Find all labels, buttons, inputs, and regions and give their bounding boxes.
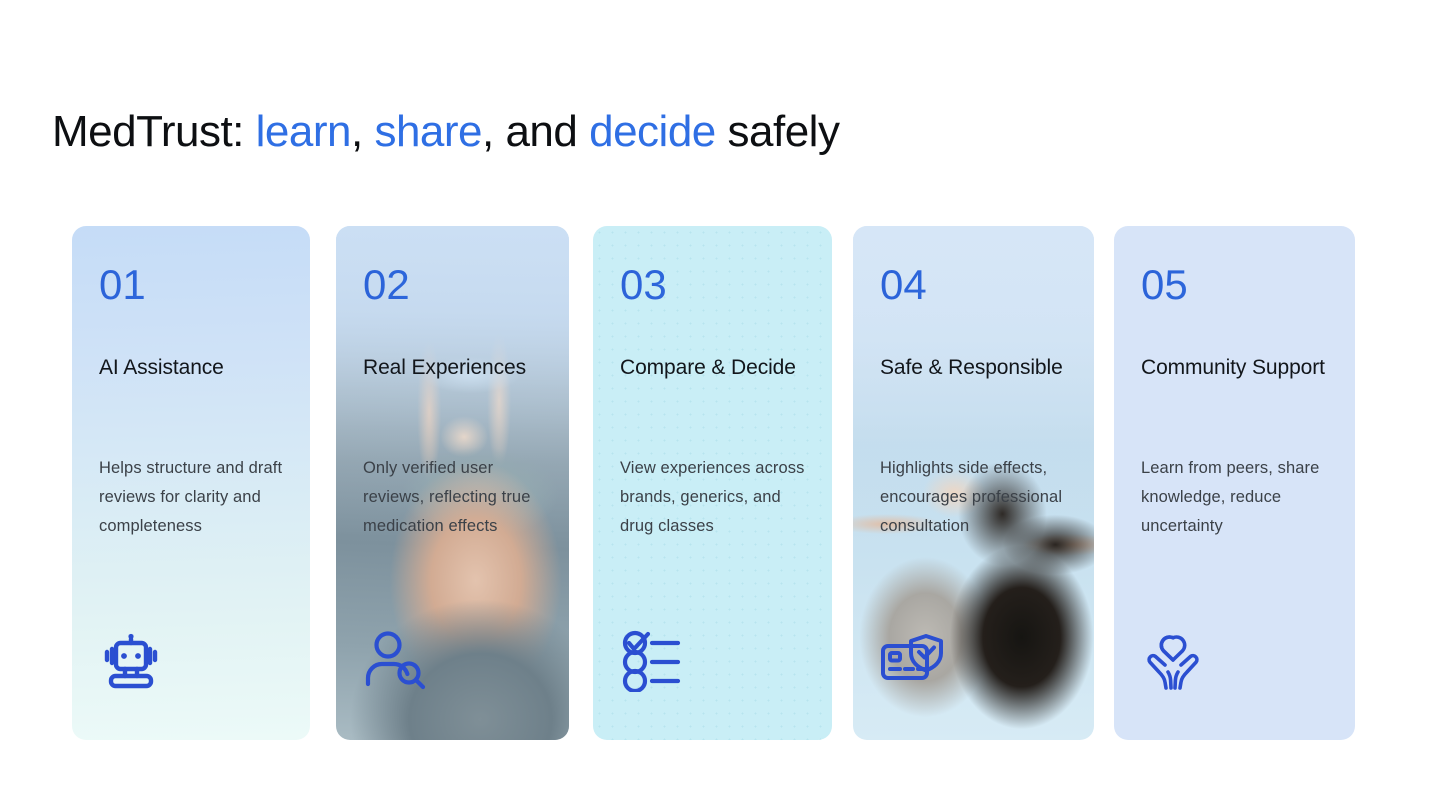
card-number: 02 [363,264,543,306]
checklist-icon [620,628,684,692]
card-description: View experiences across brands, generics… [620,454,812,541]
feature-card-05[interactable]: 05 Community Support Learn from peers, s… [1114,226,1355,740]
feature-card-03[interactable]: 03 Compare & Decide View experiences acr… [593,226,832,740]
card-shield-check-icon [880,628,944,692]
card-number: 04 [880,264,1068,306]
title-segment-0: MedTrust: [52,107,256,156]
title-segment-2: , [351,107,374,156]
feature-card-rail: 01 AI Assistance Helps structure and dra… [72,226,1368,740]
robot-icon [99,628,163,692]
title-segment-4: , and [482,107,589,156]
feature-card-04[interactable]: 04 Safe & Responsible Highlights side ef… [853,226,1094,740]
title-segment-6: safely [716,107,840,156]
card-description: Helps structure and draft reviews for cl… [99,454,290,541]
heart-in-hands-icon [1141,628,1205,692]
card-description: Learn from peers, share knowledge, reduc… [1141,454,1335,541]
title-segment-1: learn [256,107,351,156]
card-description: Highlights side effects, encourages prof… [880,454,1074,541]
title-segment-5: decide [589,107,716,156]
feature-card-01[interactable]: 01 AI Assistance Helps structure and dra… [72,226,310,740]
card-title: Compare & Decide [620,350,806,385]
card-number: 03 [620,264,806,306]
page-title: MedTrust: learn, share, and decide safel… [52,107,839,157]
user-search-icon [363,628,427,692]
card-number: 05 [1141,264,1329,306]
card-description: Only verified user reviews, reflecting t… [363,454,549,541]
card-number: 01 [99,264,284,306]
card-title: Real Experiences [363,350,543,385]
card-title: Community Support [1141,350,1329,385]
title-segment-3: share [374,107,482,156]
card-title: Safe & Responsible [880,350,1068,385]
feature-card-02[interactable]: 02 Real Experiences Only verified user r… [336,226,569,740]
card-title: AI Assistance [99,350,284,385]
